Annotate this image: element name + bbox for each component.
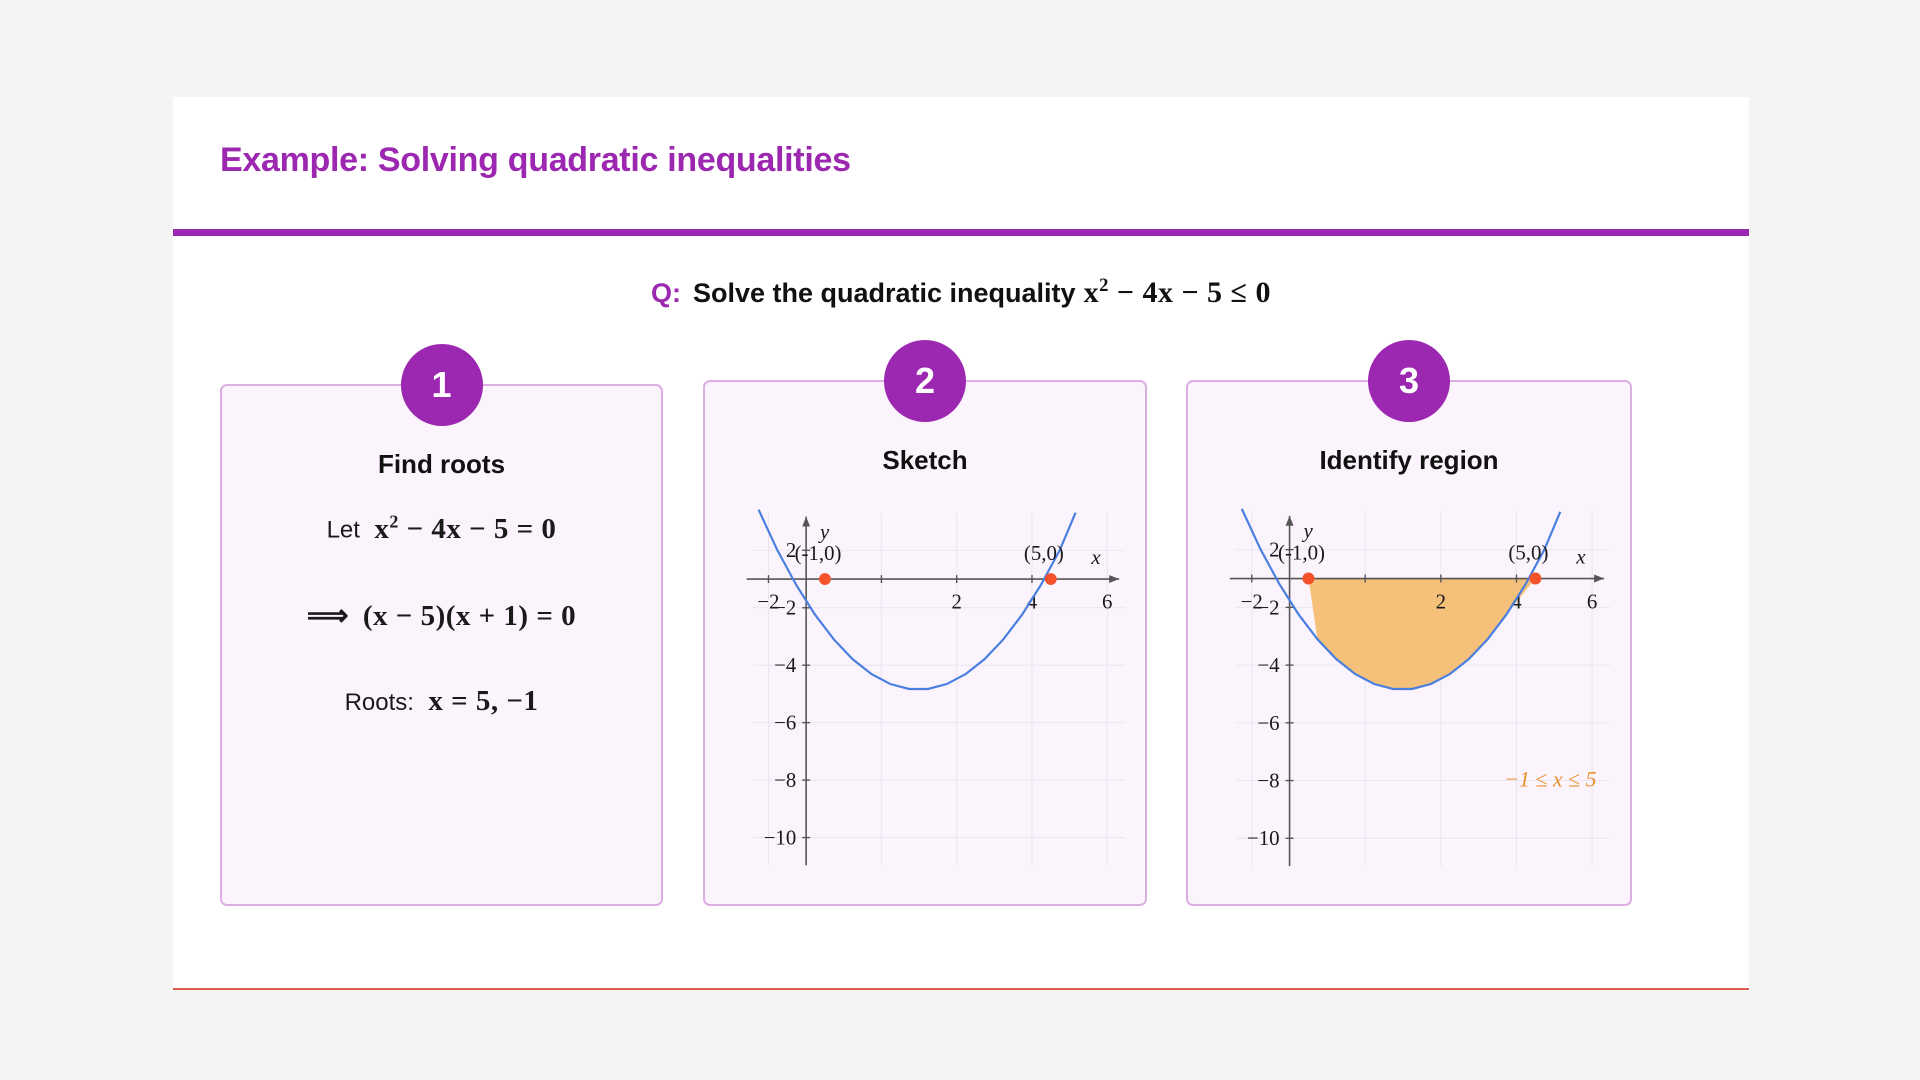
axis-ticks bbox=[769, 550, 1032, 837]
axis-x bbox=[747, 575, 1119, 583]
ytick-label: −6 bbox=[1257, 711, 1279, 735]
shaded-region bbox=[1308, 579, 1535, 689]
gridlines bbox=[753, 513, 1125, 866]
root-label-right: (5,0) bbox=[1024, 542, 1064, 565]
sketch-plot: y x −2 2 4 6 2 −2 −4 −6 −8 bbox=[717, 487, 1133, 887]
root-point-left bbox=[1303, 573, 1315, 585]
gridlines bbox=[1236, 512, 1610, 866]
step-heading-1: Find roots bbox=[222, 449, 661, 480]
ytick-label: −4 bbox=[774, 654, 797, 677]
title-divider bbox=[173, 229, 1749, 236]
step-line-math: x2 − 4x − 5 = 0 bbox=[367, 513, 557, 545]
slide-card: Example: Solving quadratic inequalities … bbox=[173, 97, 1749, 990]
step-line-factored: ⟹ (x − 5)(x + 1) = 0 bbox=[222, 598, 661, 633]
xtick-label: 2 bbox=[951, 591, 961, 614]
steps-container: 1 Find roots Let x2 − 4x − 5 = 0 ⟹ (x − … bbox=[220, 384, 1702, 906]
root-point-right bbox=[1529, 573, 1541, 585]
step-badge-2: 2 bbox=[884, 340, 966, 422]
ytick-label: −8 bbox=[774, 769, 796, 792]
step-panel-find-roots: 1 Find roots Let x2 − 4x − 5 = 0 ⟹ (x − … bbox=[220, 384, 663, 906]
ytick-label: −10 bbox=[764, 826, 797, 849]
xtick-label: 2 bbox=[1436, 589, 1446, 613]
step-badge-1: 1 bbox=[401, 344, 483, 426]
bottom-accent-rule bbox=[173, 988, 1749, 990]
question-tag: Q: bbox=[651, 278, 681, 308]
question-line: Q:Solve the quadratic inequality x2 − 4x… bbox=[173, 275, 1749, 310]
step-line-roots: Roots: x = 5, −1 bbox=[222, 685, 661, 718]
page-title: Example: Solving quadratic inequalities bbox=[220, 141, 851, 180]
step-panel-identify-region: 3 Identify region bbox=[1186, 380, 1632, 906]
axis-label-x: x bbox=[1090, 546, 1101, 569]
ytick-label: −2 bbox=[1257, 595, 1279, 619]
step-line-math: (x − 5)(x + 1) = 0 bbox=[355, 600, 576, 632]
root-point-right bbox=[1045, 573, 1057, 585]
step-line-let: Let x2 − 4x − 5 = 0 bbox=[222, 511, 661, 546]
ytick-label: −4 bbox=[1257, 653, 1280, 677]
xtick-label: 6 bbox=[1587, 589, 1597, 613]
step-badge-3: 3 bbox=[1368, 340, 1450, 422]
region-plot: y x −2 2 4 6 2 −2 −4 −6 −8 bbox=[1200, 487, 1618, 887]
axis-label-y: y bbox=[818, 520, 830, 543]
step-line-lead: Roots: bbox=[345, 689, 414, 716]
root-label-left: (-1,0) bbox=[795, 542, 842, 565]
step-line-lead: Let bbox=[327, 517, 360, 544]
step-heading-3: Identify region bbox=[1188, 445, 1630, 476]
root-label-left: (-1,0) bbox=[1278, 541, 1325, 565]
implies-arrow-icon: ⟹ bbox=[307, 600, 349, 632]
ytick-label: −6 bbox=[774, 712, 796, 735]
axis-label-x: x bbox=[1575, 545, 1586, 569]
root-point-left bbox=[819, 573, 831, 585]
axis-y bbox=[802, 517, 810, 866]
step-line-math: x = 5, −1 bbox=[421, 685, 539, 717]
axis-y bbox=[1286, 516, 1294, 866]
region-annotation: −1 ≤ x ≤ 5 bbox=[1504, 767, 1596, 792]
xtick-label: 6 bbox=[1102, 591, 1112, 614]
ytick-label: −8 bbox=[1257, 769, 1279, 793]
question-expression: x2 − 4x − 5 ≤ 0 bbox=[1076, 276, 1271, 309]
ytick-label: −2 bbox=[774, 597, 796, 620]
step-heading-2: Sketch bbox=[705, 445, 1145, 476]
root-label-right: (5,0) bbox=[1508, 541, 1548, 565]
step-panel-sketch: 2 Sketch bbox=[703, 380, 1147, 906]
ytick-label: −10 bbox=[1247, 826, 1280, 850]
step-body-1: Let x2 − 4x − 5 = 0 ⟹ (x − 5)(x + 1) = 0… bbox=[222, 511, 661, 770]
axis-label-y: y bbox=[1302, 519, 1314, 543]
question-text: Solve the quadratic inequality bbox=[693, 278, 1076, 308]
